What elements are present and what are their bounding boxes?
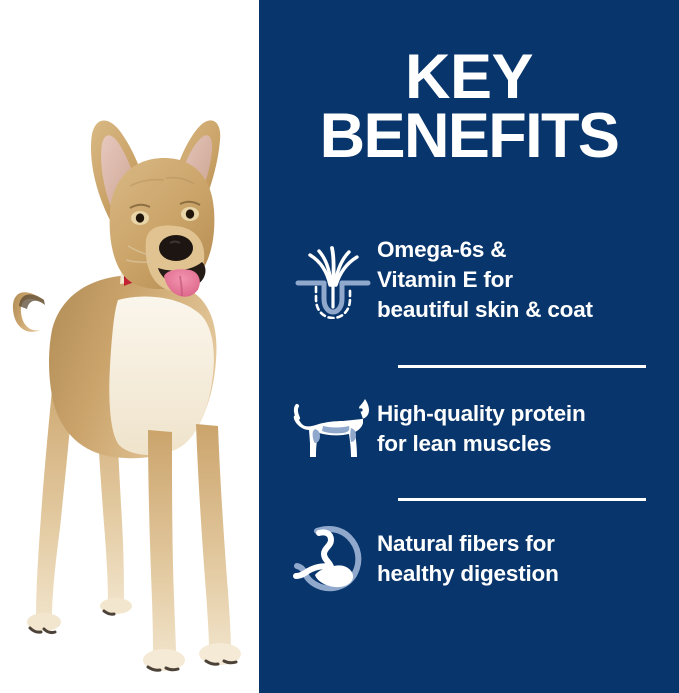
key-benefits-banner: KEY BENEFITS <box>0 0 679 693</box>
page-title: KEY BENEFITS <box>259 48 679 166</box>
benefit-text-digestion: Natural fibers for healthy digestion <box>377 529 679 589</box>
headline-line-1: KEY <box>259 48 679 107</box>
dog-photo <box>0 0 259 693</box>
benefit-text-protein: High-quality protein for lean muscles <box>377 399 679 459</box>
benefit-item-protein: High-quality protein for lean muscles <box>289 383 679 475</box>
benefit-line-2: for lean muscles <box>377 429 679 459</box>
benefit-line-3: beautiful skin & coat <box>377 295 679 325</box>
benefit-divider <box>398 498 646 501</box>
benefit-line-2: healthy digestion <box>377 559 679 589</box>
benefits-panel: KEY BENEFITS <box>259 0 679 693</box>
benefit-item-skin-coat: Omega-6s & Vitamin E for beautiful skin … <box>289 221 679 339</box>
hair-follicle-icon <box>289 241 377 319</box>
benefit-line-1: Natural fibers for <box>377 529 679 559</box>
benefit-item-digestion: Natural fibers for healthy digestion <box>289 513 679 605</box>
headline-line-2: BENEFITS <box>259 107 679 166</box>
stomach-digestion-icon <box>289 523 377 595</box>
benefit-text-skin-coat: Omega-6s & Vitamin E for beautiful skin … <box>377 235 679 325</box>
benefit-line-2: Vitamin E for <box>377 265 679 295</box>
benefit-divider <box>398 365 646 368</box>
dog-muscles-icon <box>289 397 377 461</box>
dog-photo-panel <box>0 0 259 693</box>
benefit-line-1: Omega-6s & <box>377 235 679 265</box>
benefit-line-1: High-quality protein <box>377 399 679 429</box>
